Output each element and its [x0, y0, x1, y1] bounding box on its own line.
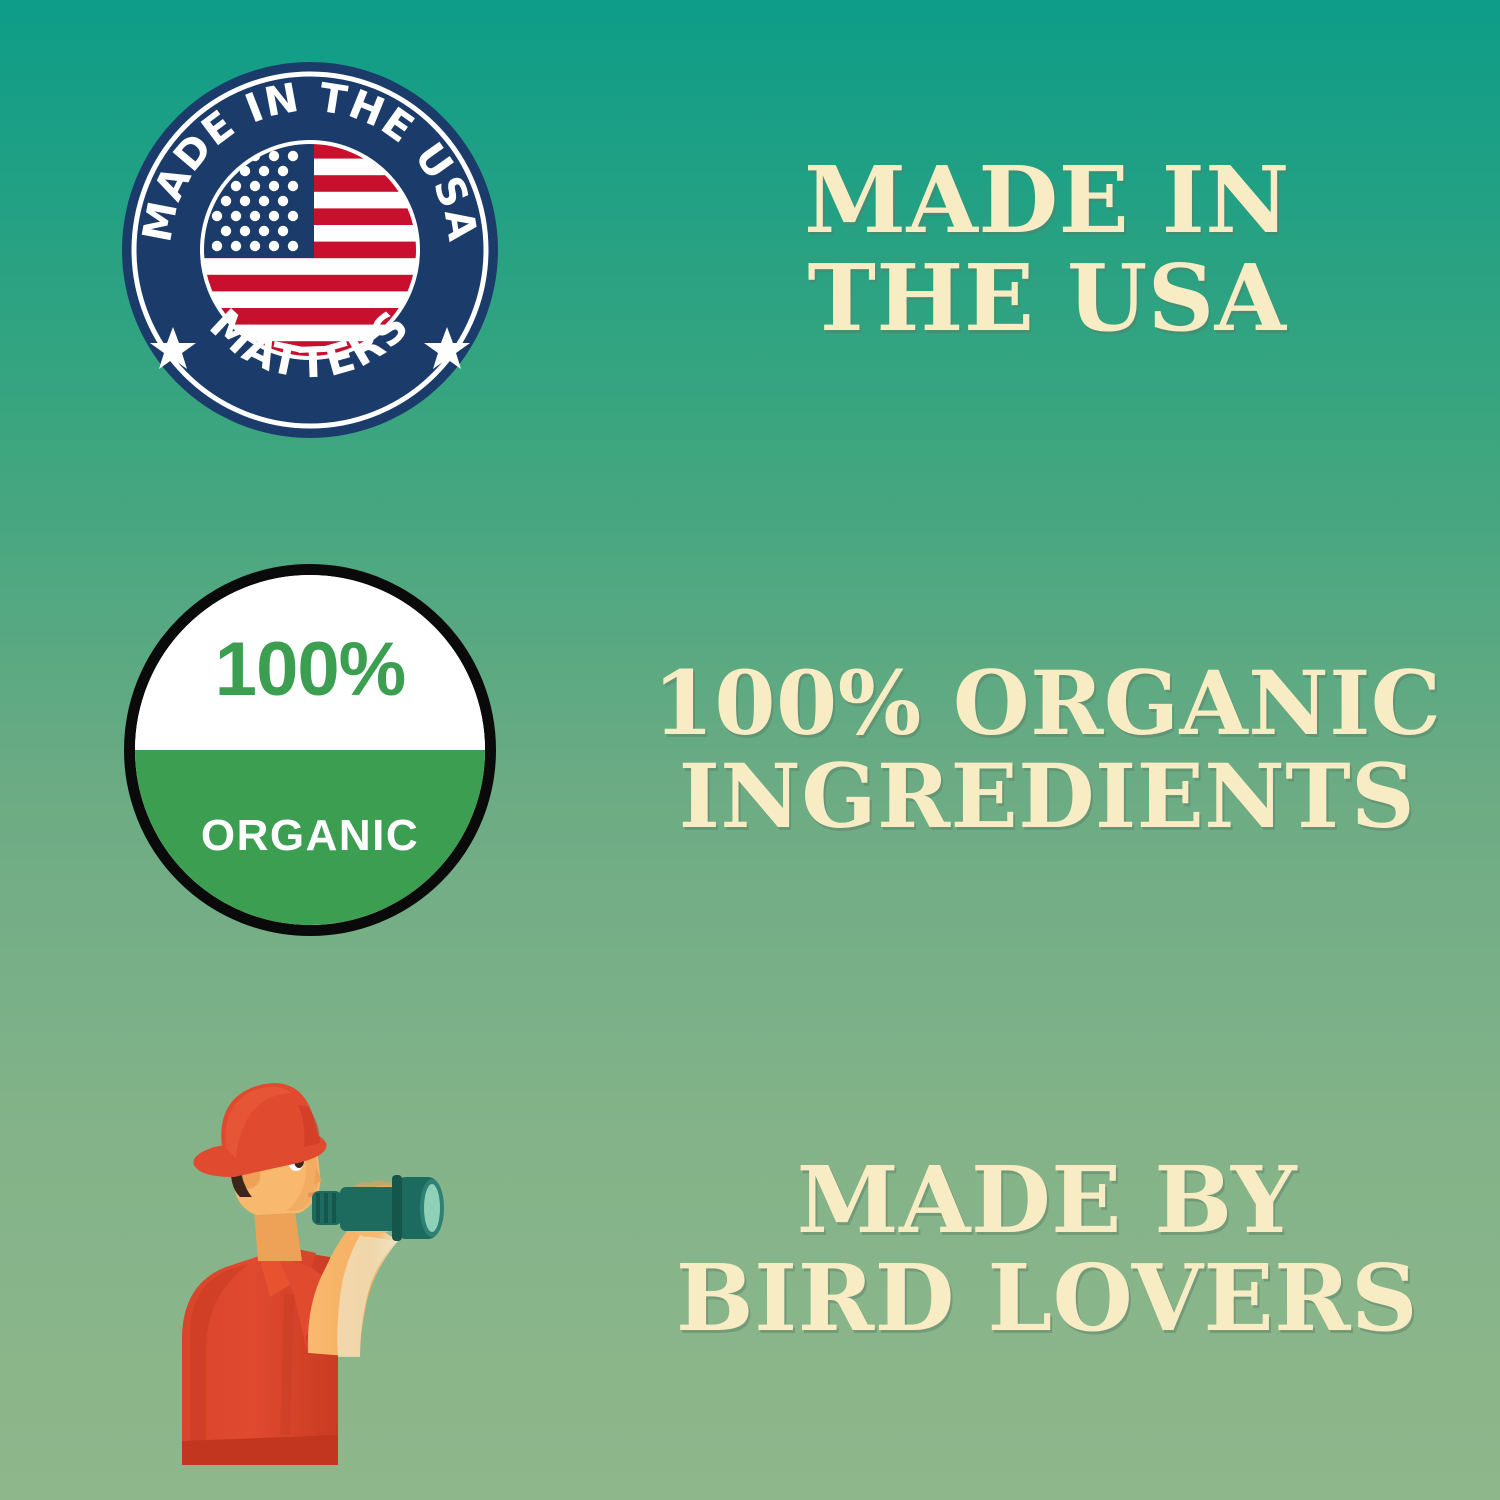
headline-line-2: BIRD LOVERS — [676, 1250, 1418, 1348]
headline-line-1: MADE BY — [797, 1152, 1297, 1250]
made-in-usa-headline: MADE IN THE USA — [620, 152, 1500, 347]
birdwatcher-cell — [0, 1035, 620, 1465]
feature-row-organic: 100% ORGANIC 100% ORGANIC INGREDIENTS — [0, 500, 1500, 1000]
feature-row-bird-lovers: MADE BY BIRD LOVERS — [0, 1000, 1500, 1500]
organic-seal-bottom-half: ORGANIC — [135, 750, 485, 925]
organic-seal-icon: 100% ORGANIC — [124, 564, 496, 936]
birdwatcher-illustration-icon — [130, 1035, 490, 1465]
product-feature-poster: MADE IN THE USA MATTERS MADE IN THE USA — [0, 0, 1500, 1500]
headline-line-1: MADE IN — [804, 152, 1290, 250]
made-in-usa-seal-icon: MADE IN THE USA MATTERS — [121, 61, 499, 439]
organic-headline: 100% ORGANIC INGREDIENTS — [620, 657, 1500, 844]
headline-line-2: THE USA — [807, 250, 1286, 348]
organic-seal-top-half: 100% — [135, 575, 485, 750]
headline-line-2: INGREDIENTS — [679, 750, 1415, 843]
organic-percent-text: 100% — [215, 626, 405, 713]
headline-line-1: 100% ORGANIC — [653, 657, 1442, 750]
usa-badge-cell: MADE IN THE USA MATTERS — [0, 61, 620, 439]
bird-lovers-headline: MADE BY BIRD LOVERS — [620, 1152, 1500, 1347]
organic-word-text: ORGANIC — [201, 811, 419, 861]
organic-badge-cell: 100% ORGANIC — [0, 564, 620, 936]
feature-row-made-in-usa: MADE IN THE USA MATTERS MADE IN THE USA — [0, 0, 1500, 500]
